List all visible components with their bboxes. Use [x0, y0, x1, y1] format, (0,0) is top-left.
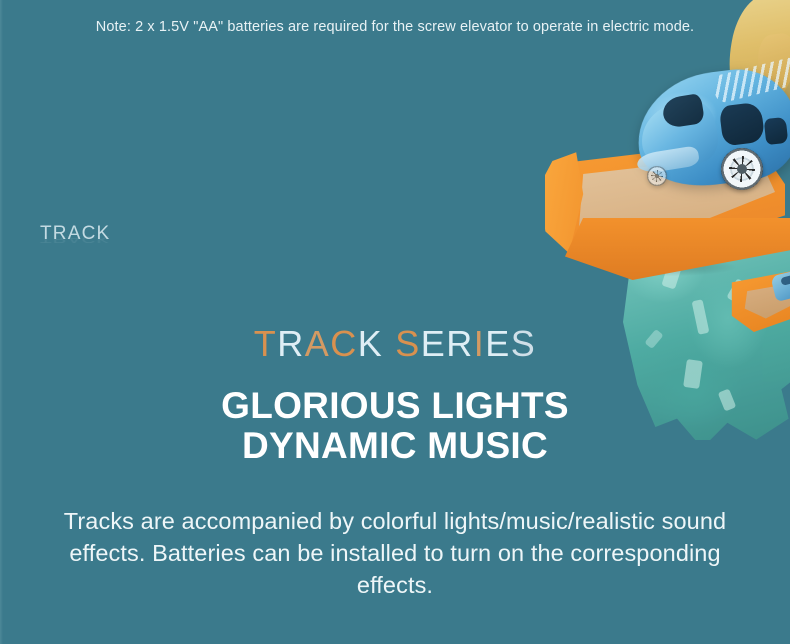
main-title-line2: DYNAMIC MUSIC — [0, 426, 790, 466]
toy-car-front-wheel — [647, 166, 667, 186]
rock-chip — [726, 278, 748, 304]
ramp-shadow — [565, 254, 765, 280]
toy-car-small — [770, 268, 790, 302]
left-edge-highlight — [0, 0, 3, 644]
track-ramp-surface — [557, 152, 775, 252]
main-title: GLORIOUS LIGHTS DYNAMIC MUSIC — [0, 386, 790, 466]
toy-car-rear-window — [764, 117, 789, 145]
wheel-spokes — [729, 156, 754, 181]
series-letter: E — [485, 323, 511, 364]
wheel-spokes — [651, 170, 663, 182]
toy-car-rear-wheel — [721, 148, 763, 190]
series-letter: S — [511, 323, 537, 364]
toy-car-body — [631, 63, 790, 194]
yellow-track-element — [722, 0, 790, 109]
series-letter: R — [277, 323, 305, 364]
series-letter: C — [330, 323, 358, 364]
wheel-hub — [655, 174, 660, 179]
yellow-track-element-secondary — [755, 32, 790, 108]
track-watermark-reflection: TRACK — [40, 233, 110, 245]
toy-car-side-window — [719, 102, 766, 147]
series-heading: TRACKSERIES — [0, 326, 790, 362]
promo-banner: Note: 2 x 1.5V "AA" batteries are requir… — [0, 0, 790, 644]
battery-note: Note: 2 x 1.5V "AA" batteries are requir… — [0, 19, 790, 35]
description-text: Tracks are accompanied by colorful light… — [50, 505, 740, 601]
main-title-line1: GLORIOUS LIGHTS — [0, 386, 790, 426]
track-ramp-front-edge — [565, 218, 790, 280]
toy-car-windshield — [661, 93, 705, 129]
series-letter: E — [421, 323, 447, 364]
track-ramp-main — [545, 140, 785, 270]
toy-car-small-window — [780, 274, 790, 286]
track-ramp-small-surface — [741, 282, 790, 320]
series-letter: A — [305, 323, 331, 364]
rock-chip — [683, 359, 703, 389]
toy-car-hood — [636, 98, 722, 172]
series-letter: K — [358, 323, 384, 364]
series-letter: R — [446, 323, 474, 364]
product-photo — [545, 0, 790, 440]
series-letter: T — [254, 323, 278, 364]
rock-chip — [661, 260, 682, 289]
wheel-hub — [737, 164, 747, 174]
series-letter: S — [395, 323, 421, 364]
track-ramp-small — [725, 270, 790, 332]
toy-car-roof-stripe — [711, 56, 790, 104]
track-ramp-lip — [545, 150, 607, 260]
series-letter: I — [474, 323, 486, 364]
toy-car-bumper — [636, 145, 700, 174]
